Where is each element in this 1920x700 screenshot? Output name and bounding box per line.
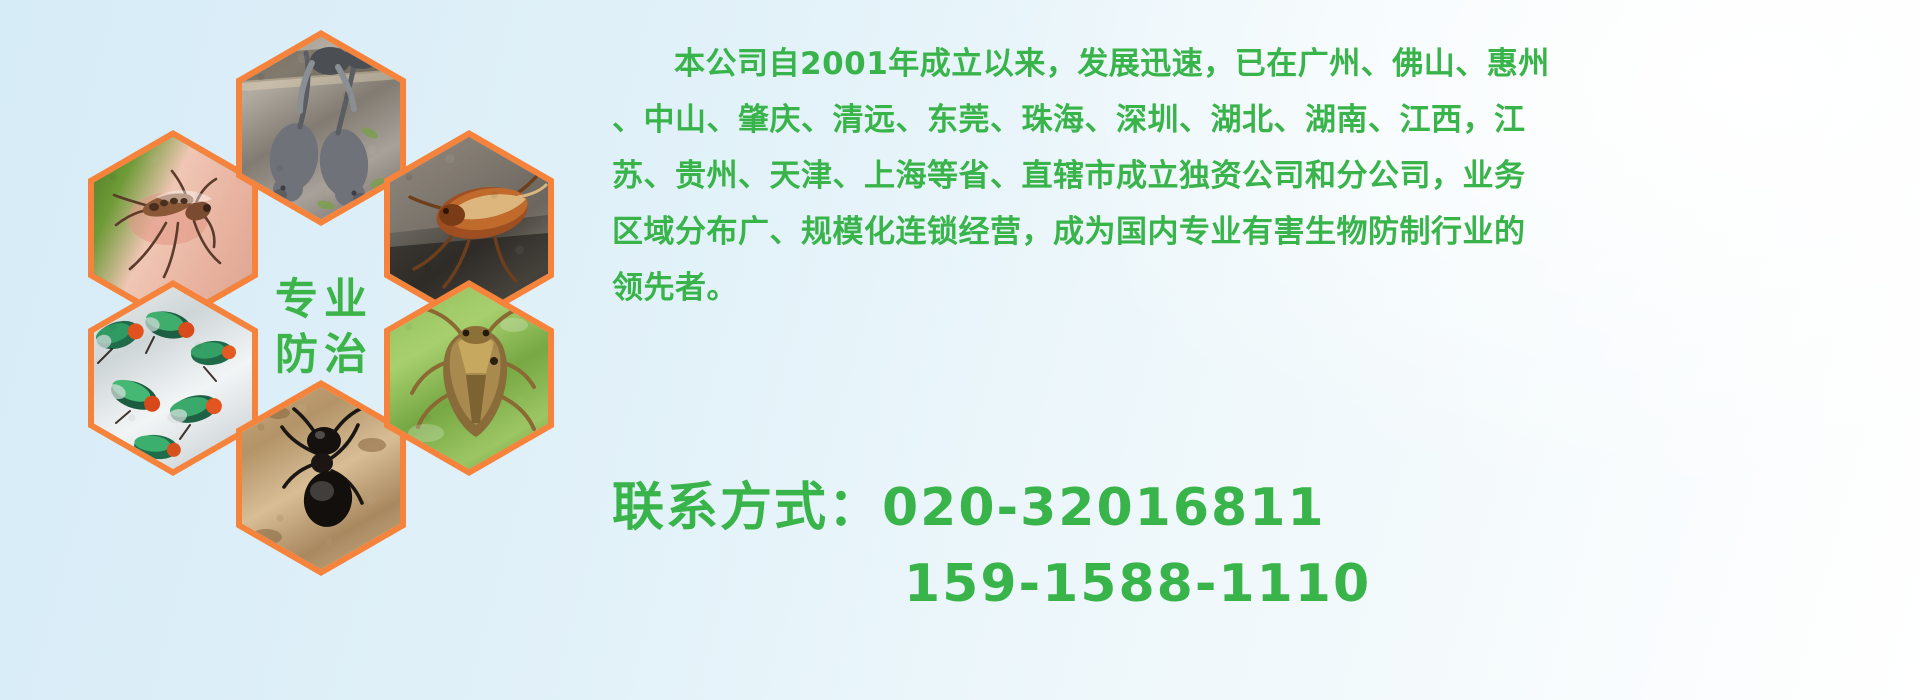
about-line-1: 本公司自2001年成立以来，发展迅速，已在广州、佛山、惠州 <box>612 36 1870 92</box>
hex-photo-flies[interactable] <box>88 280 258 476</box>
hex-photo-rats[interactable] <box>236 30 406 226</box>
contact-secondary-phone[interactable]: 159-1588-1110 <box>612 546 1870 622</box>
slogan-line-2: 防治 <box>269 333 373 378</box>
company-description: 本公司自2001年成立以来，发展迅速，已在广州、佛山、惠州 、中山、肇庆、清远、… <box>612 36 1870 316</box>
slogan-line-1: 专业 <box>269 278 373 323</box>
hexagon-photo-cluster: 专业 防治 <box>88 8 588 568</box>
about-line-3: 苏、贵州、天津、上海等省、直辖市成立独资公司和分公司，业务 <box>612 148 1870 204</box>
hex-photo-stink-bug[interactable] <box>384 280 554 476</box>
about-line-2: 、中山、肇庆、清远、东莞、珠海、深圳、湖北、湖南、江西，江 <box>612 92 1870 148</box>
about-line-5: 领先者。 <box>612 260 1870 316</box>
contact-primary-phone[interactable]: 联系方式：020-32016811 <box>612 470 1870 546</box>
pest-control-banner: 专业 防治 本公司自2001年成立以来，发展迅速，已在广州、佛山、惠州 、中山、… <box>0 0 1920 700</box>
hex-slogan-badge: 专业 防治 <box>236 230 406 426</box>
about-line-4: 区域分布广、规模化连锁经营，成为国内专业有害生物防制行业的 <box>612 204 1870 260</box>
contact-block: 联系方式：020-32016811 159-1588-1110 <box>612 470 1870 622</box>
